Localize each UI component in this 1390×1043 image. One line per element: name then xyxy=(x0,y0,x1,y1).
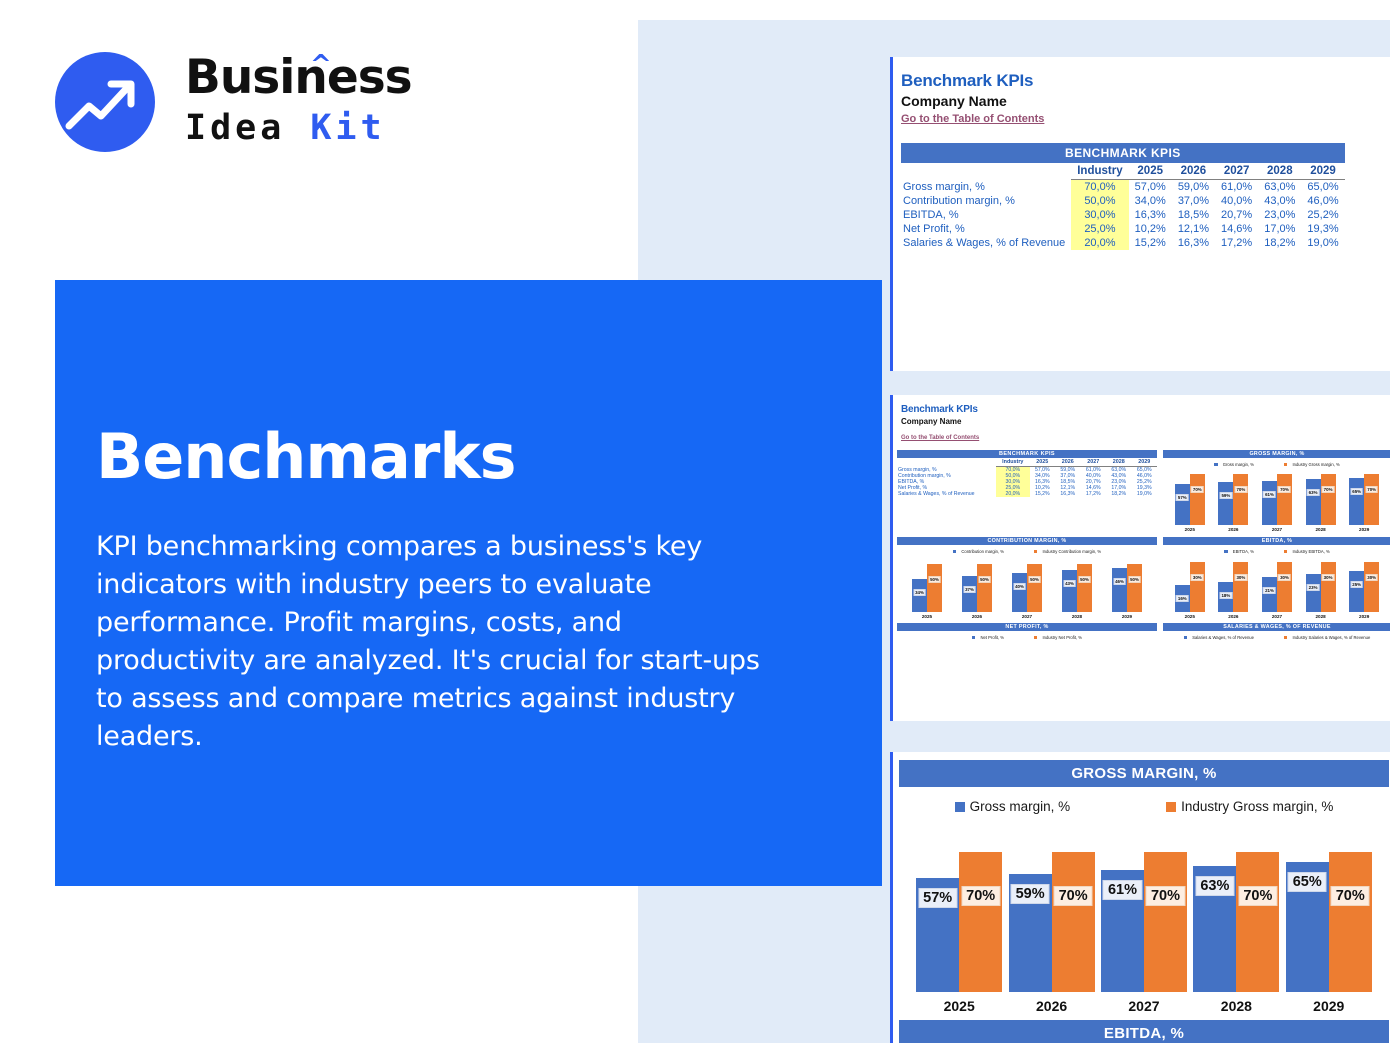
bar-ebitda-company-2025[interactable]: 16% xyxy=(1175,585,1190,612)
bar-data-label: 70% xyxy=(1278,486,1291,493)
bar-group-2029: 65%70% xyxy=(1286,852,1372,992)
x-axis-tick-2025: 2025 xyxy=(1173,527,1207,532)
sheet-subtitle-mini: Company Name xyxy=(901,417,1390,426)
bar-gross-margin-industry-2026[interactable]: 70% xyxy=(1233,474,1248,525)
kpi-cell-industry[interactable]: 20,0% xyxy=(996,491,1030,497)
kpi-cell-2026[interactable]: 16,3% xyxy=(1172,236,1215,250)
mini-chart-gross-margin[interactable]: GROSS MARGIN, % Gross margin, % Industry… xyxy=(1163,450,1390,532)
legend-item-industry-4: Industry Salaries & Wages, % of Revenue xyxy=(1284,635,1370,640)
legend-item-company-1: Contribution margin, % xyxy=(953,549,1004,554)
bar-data-label: 40% xyxy=(1013,583,1026,590)
legend-swatch-orange-2 xyxy=(1284,550,1288,554)
bar-gross-margin-company-2028[interactable]: 63% xyxy=(1193,866,1236,992)
bar-data-label: 50% xyxy=(1028,576,1041,583)
bar-ebitda-industry-2026[interactable]: 30% xyxy=(1233,562,1248,612)
kpi-column-header-2029[interactable]: 2029 xyxy=(1132,458,1158,467)
table-row[interactable]: Net Profit, %25,0%10,2%12,1%14,6%17,0%19… xyxy=(901,222,1345,236)
large-chart-ebitda-strip[interactable]: EBITDA, % EBITDA, % Industry EBITDA, % xyxy=(893,1014,1390,1043)
legend-label-industry-1: Industry Contribution margin, % xyxy=(1042,549,1101,554)
bar-group-2029: 46%50% xyxy=(1110,564,1144,612)
bar-ebitda-industry-2028[interactable]: 30% xyxy=(1321,562,1336,612)
legend-item-company-0: Gross margin, % xyxy=(1214,462,1254,467)
bar-gross-margin-company-2026[interactable]: 59% xyxy=(1009,874,1052,992)
benchmark-kpi-table[interactable]: BENCHMARK KPISIndustry202520262027202820… xyxy=(901,143,1345,250)
kpi-cell-industry[interactable]: 50,0% xyxy=(1071,194,1128,208)
bar-contribution-margin-industry-2028[interactable]: 50% xyxy=(1077,564,1092,612)
kpi-column-header-2025[interactable]: 2025 xyxy=(1129,163,1172,180)
bar-gross-margin-industry-2029[interactable]: 70% xyxy=(1364,474,1379,525)
kpi-table-body: BENCHMARK KPISIndustry202520262027202820… xyxy=(901,143,1345,250)
legend-label-company-big: Gross margin, % xyxy=(970,799,1071,814)
brand-logo[interactable]: Business ^ Idea Kit xyxy=(55,50,455,160)
kpi-cell-2026[interactable]: 59,0% xyxy=(1172,180,1215,195)
mini-xaxis-1: 20252026202720282029 xyxy=(897,612,1157,619)
kpi-cell-2028[interactable]: 23,0% xyxy=(1258,208,1301,222)
x-axis-tick-2025: 2025 xyxy=(1173,614,1207,619)
bar-data-label: 50% xyxy=(928,576,941,583)
bar-gross-margin-company-2026[interactable]: 59% xyxy=(1218,482,1233,525)
legend-item-industry-1: Industry Contribution margin, % xyxy=(1034,549,1101,554)
bar-contribution-margin-industry-2026[interactable]: 50% xyxy=(977,564,992,612)
bar-contribution-margin-industry-2027[interactable]: 50% xyxy=(1027,564,1042,612)
kpi-table-header-row: Industry20252026202720282029 xyxy=(897,458,1157,467)
x-axis-tick-2027: 2027 xyxy=(1010,614,1044,619)
kpi-table-band-row: BENCHMARK KPIS xyxy=(897,450,1157,458)
bar-ebitda-company-2029[interactable]: 25% xyxy=(1349,571,1364,612)
kpi-row-label: EBITDA, % xyxy=(901,208,1071,222)
bar-data-label: 30% xyxy=(1322,574,1335,581)
legend-label-company-3: Net Profit, % xyxy=(980,635,1004,640)
bar-gross-margin-industry-2025[interactable]: 70% xyxy=(1190,474,1205,525)
kpi-cell-2027[interactable]: 14,6% xyxy=(1215,222,1258,236)
bar-data-label: 61% xyxy=(1263,491,1276,498)
mini-plot-2: 16%30%18%30%21%30%23%30%25%30% xyxy=(1163,554,1390,612)
bar-data-label: 30% xyxy=(1191,574,1204,581)
bar-data-label: 30% xyxy=(1234,574,1247,581)
kpi-cell-2029[interactable]: 19,0% xyxy=(1132,491,1158,497)
x-axis-tick-2029: 2029 xyxy=(1347,614,1381,619)
table-row[interactable]: EBITDA, %30,0%16,3%18,5%20,7%23,0%25,2% xyxy=(901,208,1345,222)
bar-group-2026: 59%70% xyxy=(1216,474,1250,525)
kpi-cell-2026[interactable]: 18,5% xyxy=(1172,208,1215,222)
legend-swatch-blue-big xyxy=(955,802,965,812)
bar-ebitda-industry-2025[interactable]: 30% xyxy=(1190,562,1205,612)
large-chart-legend: Gross margin, % Industry Gross margin, % xyxy=(899,799,1389,814)
kpi-cell-2025[interactable]: 57,0% xyxy=(1129,180,1172,195)
legend-swatch-blue-3 xyxy=(972,636,976,640)
kpi-cell-2025[interactable]: 15,2% xyxy=(1030,491,1055,497)
bar-data-label: 70% xyxy=(961,886,1000,906)
kpi-cell-2029[interactable]: 19,0% xyxy=(1301,236,1344,250)
kpi-cell-2029[interactable]: 65,0% xyxy=(1301,180,1344,195)
bar-data-label: 63% xyxy=(1195,876,1234,896)
bar-ebitda-industry-2027[interactable]: 30% xyxy=(1277,562,1292,612)
mini-chart-contribution-margin[interactable]: CONTRIBUTION MARGIN, % Contribution marg… xyxy=(897,537,1157,619)
bar-data-label: 50% xyxy=(1128,576,1141,583)
x-axis-tick-2028: 2028 xyxy=(1304,527,1338,532)
legend-item-company-3: Net Profit, % xyxy=(972,635,1004,640)
bar-gross-margin-company-2029[interactable]: 65% xyxy=(1286,862,1329,992)
bar-data-label: 70% xyxy=(1322,486,1335,493)
bar-group-2027: 40%50% xyxy=(1010,564,1044,612)
x-axis-tick-2025: 2025 xyxy=(916,998,1002,1014)
growth-arrow-chart-icon xyxy=(55,52,155,152)
kpi-row-label: Salaries & Wages, % of Revenue xyxy=(901,236,1071,250)
bar-data-label: 70% xyxy=(1191,486,1204,493)
table-row[interactable]: Salaries & Wages, % of Revenue20,0%15,2%… xyxy=(901,236,1345,250)
kpi-row-label: Net Profit, % xyxy=(901,222,1071,236)
bar-data-label: 25% xyxy=(1350,581,1363,588)
bar-group-2026: 59%70% xyxy=(1009,852,1095,992)
kpi-column-header-industry[interactable]: Industry xyxy=(1071,163,1128,180)
bar-gross-margin-industry-2028[interactable]: 70% xyxy=(1236,852,1279,992)
bar-gross-margin-company-2027[interactable]: 61% xyxy=(1101,870,1144,992)
kpi-cell-industry[interactable]: 20,0% xyxy=(1071,236,1128,250)
legend-swatch-orange-0 xyxy=(1284,463,1288,467)
kpi-cell-2027[interactable]: 61,0% xyxy=(1215,180,1258,195)
bar-gross-margin-company-2027[interactable]: 61% xyxy=(1262,481,1277,525)
sheet-title: Benchmark KPIs xyxy=(901,71,1390,91)
bar-contribution-margin-company-2025[interactable]: 34% xyxy=(912,579,927,612)
large-plot: 57%70%59%70%61%70%63%70%65%70% xyxy=(899,832,1389,992)
mini-chart-legend-3: Net Profit, % Industry Net Profit, % xyxy=(897,635,1157,640)
kpi-row-label: Contribution margin, % xyxy=(901,194,1071,208)
bar-group-2029: 25%30% xyxy=(1347,562,1381,612)
kpi-table-corner-cell xyxy=(897,458,996,467)
legend-label-industry-3: Industry Net Profit, % xyxy=(1042,635,1082,640)
kpi-table-corner-cell xyxy=(901,163,1071,180)
mini-chart-title-4: SALARIES & WAGES, % OF REVENUE xyxy=(1163,623,1390,631)
dashboard-row-2: CONTRIBUTION MARGIN, % Contribution marg… xyxy=(897,537,1390,619)
x-axis-tick-2025: 2025 xyxy=(910,614,944,619)
bar-group-2026: 37%50% xyxy=(960,564,994,612)
bar-contribution-margin-company-2026[interactable]: 37% xyxy=(962,576,977,612)
bar-group-2026: 18%30% xyxy=(1216,562,1250,612)
legend-item-industry-2: Industry EBITDA, % xyxy=(1284,549,1330,554)
bar-data-label: 57% xyxy=(1176,494,1189,501)
table-row[interactable]: Contribution margin, %50,0%34,0%37,0%40,… xyxy=(901,194,1345,208)
bar-group-2025: 34%50% xyxy=(910,564,944,612)
mini-chart-title-0: GROSS MARGIN, % xyxy=(1163,450,1390,458)
legend-label-company-2: EBITDA, % xyxy=(1233,549,1254,554)
table-row[interactable]: Salaries & Wages, % of Revenue20,0%15,2%… xyxy=(897,491,1157,497)
bar-gross-margin-company-2029[interactable]: 65% xyxy=(1349,478,1364,525)
bar-data-label: 30% xyxy=(1278,574,1291,581)
slide-canvas: Business ^ Idea Kit Benchmarks KPI bench… xyxy=(0,0,1390,1043)
hero-content: Benchmarks KPI benchmarking compares a b… xyxy=(96,420,776,756)
kpi-cell-2028[interactable]: 17,0% xyxy=(1258,222,1301,236)
bar-contribution-margin-industry-2025[interactable]: 50% xyxy=(927,564,942,612)
bar-gross-margin-industry-2026[interactable]: 70% xyxy=(1052,852,1095,992)
page-title: Benchmarks xyxy=(96,420,776,494)
bar-gross-margin-industry-2027[interactable]: 70% xyxy=(1144,852,1187,992)
x-axis-tick-2026: 2026 xyxy=(1009,998,1095,1014)
legend-swatch-orange-3 xyxy=(1034,636,1038,640)
mini-chart-salaries-wages[interactable]: SALARIES & WAGES, % OF REVENUE Salaries … xyxy=(1163,623,1390,640)
legend-swatch-blue-4 xyxy=(1184,636,1188,640)
legend-swatch-blue-0 xyxy=(1214,463,1218,467)
mini-plot-0: 57%70%59%70%61%70%63%70%65%70% xyxy=(1163,467,1390,525)
mini-chart-legend-4: Salaries & Wages, % of Revenue Industry … xyxy=(1163,635,1390,640)
large-xaxis: 20252026202720282029 xyxy=(899,992,1389,1014)
kpi-table-band-row: BENCHMARK KPIS xyxy=(901,143,1345,163)
legend-item-company-2: EBITDA, % xyxy=(1224,549,1254,554)
bar-ebitda-company-2028[interactable]: 23% xyxy=(1306,574,1321,612)
ebitda-strip-title: EBITDA, % xyxy=(899,1020,1389,1043)
kpi-table-header-row: Industry20252026202720282029 xyxy=(901,163,1345,180)
mini-chart-ebitda[interactable]: EBITDA, % EBITDA, % Industry EBITDA, % 1… xyxy=(1163,537,1390,619)
bar-data-label: 21% xyxy=(1263,587,1276,594)
kpi-cell-2027[interactable]: 17,2% xyxy=(1081,491,1106,497)
bar-gross-margin-industry-2025[interactable]: 70% xyxy=(959,852,1002,992)
bar-data-label: 46% xyxy=(1113,578,1126,585)
x-axis-tick-2028: 2028 xyxy=(1060,614,1094,619)
mini-chart-title-3: NET PROFIT, % xyxy=(897,623,1157,631)
bar-data-label: 70% xyxy=(1365,486,1378,493)
bar-group-2027: 61%70% xyxy=(1101,852,1187,992)
bar-gross-margin-company-2025[interactable]: 57% xyxy=(916,878,959,992)
legend-label-industry-0: Industry Gross margin, % xyxy=(1292,462,1339,467)
kpi-cell-2026[interactable]: 16,3% xyxy=(1055,491,1080,497)
kpi-cell-2025[interactable]: 10,2% xyxy=(1129,222,1172,236)
kpi-column-header-2026[interactable]: 2026 xyxy=(1172,163,1215,180)
kpi-cell-2028[interactable]: 18,2% xyxy=(1258,236,1301,250)
bar-data-label: 57% xyxy=(918,888,957,908)
bar-data-label: 70% xyxy=(1054,886,1093,906)
dashboard-row-1: BENCHMARK KPISIndustry202520262027202820… xyxy=(897,450,1390,532)
hero-description: KPI benchmarking compares a business's k… xyxy=(96,528,776,756)
x-axis-tick-2029: 2029 xyxy=(1110,614,1144,619)
bar-gross-margin-industry-2029[interactable]: 70% xyxy=(1329,852,1372,992)
x-axis-tick-2027: 2027 xyxy=(1260,527,1294,532)
x-axis-tick-2027: 2027 xyxy=(1101,998,1187,1014)
kpi-cell-2025[interactable]: 34,0% xyxy=(1129,194,1172,208)
bar-group-2025: 57%70% xyxy=(1173,474,1207,525)
legend-swatch-orange-4 xyxy=(1284,636,1288,640)
kpi-cell-industry[interactable]: 25,0% xyxy=(1071,222,1128,236)
brand-idea-text: Idea xyxy=(185,108,310,148)
legend-swatch-orange-1 xyxy=(1034,550,1038,554)
brand-wordmark: Business ^ Idea Kit xyxy=(185,50,485,150)
kpi-cell-2027[interactable]: 20,7% xyxy=(1215,208,1258,222)
mini-chart-title-1: CONTRIBUTION MARGIN, % xyxy=(897,537,1157,545)
bar-data-label: 16% xyxy=(1176,595,1189,602)
bar-group-2027: 21%30% xyxy=(1260,562,1294,612)
bar-gross-margin-company-2028[interactable]: 63% xyxy=(1306,479,1321,525)
legend-label-company-4: Salaries & Wages, % of Revenue xyxy=(1192,635,1254,640)
bar-gross-margin-industry-2028[interactable]: 70% xyxy=(1321,474,1336,525)
legend-item-industry-3: Industry Net Profit, % xyxy=(1034,635,1082,640)
kpi-column-header-2028[interactable]: 2028 xyxy=(1106,458,1131,467)
mini-chart-title-2: EBITDA, % xyxy=(1163,537,1390,545)
mini-kpi-table-block[interactable]: BENCHMARK KPISIndustry202520262027202820… xyxy=(897,450,1157,497)
legend-item-company-big: Gross margin, % xyxy=(955,799,1071,814)
kpi-column-header-industry[interactable]: Industry xyxy=(996,458,1030,467)
bar-data-label: 65% xyxy=(1350,488,1363,495)
kpi-cell-2025[interactable]: 16,3% xyxy=(1129,208,1172,222)
legend-item-industry-big: Industry Gross margin, % xyxy=(1166,799,1333,814)
sheet-header: Benchmark KPIs Company Name Go to the Ta… xyxy=(893,57,1390,127)
table-of-contents-link[interactable]: Go to the Table of Contents xyxy=(901,113,1044,125)
sheet-title-mini: Benchmark KPIs xyxy=(901,404,1390,415)
bar-data-label: 37% xyxy=(963,586,976,593)
kpi-column-header-2028[interactable]: 2028 xyxy=(1258,163,1301,180)
bar-contribution-margin-company-2028[interactable]: 43% xyxy=(1062,570,1077,612)
mini-chart-net-profit[interactable]: NET PROFIT, % Net Profit, % Industry Net… xyxy=(897,623,1157,640)
brand-kit-text: Kit xyxy=(310,108,385,148)
large-chart-gross-margin[interactable]: GROSS MARGIN, % Gross margin, % Industry… xyxy=(893,752,1390,1014)
table-of-contents-link-mini[interactable]: Go to the Table of Contents xyxy=(901,435,979,441)
bar-group-2028: 63%70% xyxy=(1193,852,1279,992)
x-axis-tick-2026: 2026 xyxy=(960,614,994,619)
kpi-cell-industry[interactable]: 70,0% xyxy=(1071,180,1128,195)
kpi-table-band-title: BENCHMARK KPIS xyxy=(901,143,1345,163)
mini-xaxis-0: 20252026202720282029 xyxy=(1163,525,1390,532)
kpi-cell-2026[interactable]: 37,0% xyxy=(1172,194,1215,208)
brand-line-ideakit: Idea Kit xyxy=(185,106,485,150)
bar-gross-margin-industry-2027[interactable]: 70% xyxy=(1277,474,1292,525)
kpi-cell-2029[interactable]: 46,0% xyxy=(1301,194,1344,208)
sheet-header-mini: Benchmark KPIs Company Name Go to the Ta… xyxy=(893,395,1390,444)
bar-data-label: 34% xyxy=(913,589,926,596)
kpi-cell-industry[interactable]: 30,0% xyxy=(1071,208,1128,222)
brand-caret-icon: ^ xyxy=(310,52,331,78)
bar-data-label: 59% xyxy=(1011,884,1050,904)
mini-plot-1: 34%50%37%50%40%50%43%50%46%50% xyxy=(897,554,1157,612)
legend-item-company-4: Salaries & Wages, % of Revenue xyxy=(1184,635,1254,640)
sheet-panel-table[interactable]: Benchmark KPIs Company Name Go to the Ta… xyxy=(890,57,1390,371)
bar-data-label: 43% xyxy=(1063,580,1076,587)
dashboard-grid: BENCHMARK KPISIndustry202520262027202820… xyxy=(893,450,1390,640)
x-axis-tick-2027: 2027 xyxy=(1260,614,1294,619)
bar-data-label: 63% xyxy=(1307,489,1320,496)
bar-ebitda-company-2026[interactable]: 18% xyxy=(1218,582,1233,612)
table-row[interactable]: Gross margin, %70,0%57,0%59,0%61,0%63,0%… xyxy=(901,180,1345,195)
sheet-panel-dashboard[interactable]: Benchmark KPIs Company Name Go to the Ta… xyxy=(890,395,1390,721)
kpi-row-label: Gross margin, % xyxy=(901,180,1071,195)
bar-data-label: 50% xyxy=(978,576,991,583)
x-axis-tick-2028: 2028 xyxy=(1304,614,1338,619)
legend-label-company-1: Contribution margin, % xyxy=(961,549,1004,554)
bar-contribution-margin-company-2027[interactable]: 40% xyxy=(1012,573,1027,612)
x-axis-tick-2026: 2026 xyxy=(1216,614,1250,619)
kpi-cell-2027[interactable]: 17,2% xyxy=(1215,236,1258,250)
brand-business-text: Business xyxy=(185,50,412,105)
x-axis-tick-2029: 2029 xyxy=(1286,998,1372,1014)
legend-item-industry-0: Industry Gross margin, % xyxy=(1284,462,1340,467)
bar-data-label: 65% xyxy=(1288,872,1327,892)
sheet-subtitle: Company Name xyxy=(901,93,1390,109)
legend-label-company-0: Gross margin, % xyxy=(1223,462,1254,467)
legend-label-industry-4: Industry Salaries & Wages, % of Revenue xyxy=(1292,635,1370,640)
bar-group-2025: 57%70% xyxy=(916,852,1002,992)
x-axis-tick-2026: 2026 xyxy=(1216,527,1250,532)
bar-group-2028: 23%30% xyxy=(1304,562,1338,612)
kpi-cell-2025[interactable]: 15,2% xyxy=(1129,236,1172,250)
bar-data-label: 61% xyxy=(1103,880,1142,900)
kpi-column-header-2026[interactable]: 2026 xyxy=(1055,458,1080,467)
bar-data-label: 70% xyxy=(1146,886,1185,906)
kpi-column-header-2029[interactable]: 2029 xyxy=(1301,163,1344,180)
bar-data-label: 59% xyxy=(1219,492,1232,499)
bar-data-label: 70% xyxy=(1238,886,1277,906)
sheet-panel-large-chart[interactable]: GROSS MARGIN, % Gross margin, % Industry… xyxy=(890,752,1390,1043)
mini-xaxis-2: 20252026202720282029 xyxy=(1163,612,1390,619)
kpi-column-header-2025[interactable]: 2025 xyxy=(1030,458,1055,467)
kpi-cell-2029[interactable]: 25,2% xyxy=(1301,208,1344,222)
kpi-cell-2029[interactable]: 19,3% xyxy=(1301,222,1344,236)
x-axis-tick-2028: 2028 xyxy=(1193,998,1279,1014)
kpi-cell-2028[interactable]: 63,0% xyxy=(1258,180,1301,195)
bar-group-2028: 43%50% xyxy=(1060,564,1094,612)
bar-group-2028: 63%70% xyxy=(1304,474,1338,525)
legend-label-industry-big: Industry Gross margin, % xyxy=(1181,799,1333,814)
legend-swatch-blue-1 xyxy=(953,550,957,554)
x-axis-tick-2029: 2029 xyxy=(1347,527,1381,532)
bar-contribution-margin-company-2029[interactable]: 46% xyxy=(1112,568,1127,612)
legend-label-industry-2: Industry EBITDA, % xyxy=(1292,549,1329,554)
bar-data-label: 70% xyxy=(1234,486,1247,493)
kpi-column-header-2027[interactable]: 2027 xyxy=(1081,458,1106,467)
bar-data-label: 70% xyxy=(1331,886,1370,906)
kpi-cell-2028[interactable]: 18,2% xyxy=(1106,491,1131,497)
legend-swatch-blue-2 xyxy=(1224,550,1228,554)
benchmark-kpi-table-mini[interactable]: BENCHMARK KPISIndustry202520262027202820… xyxy=(897,450,1157,497)
bar-data-label: 50% xyxy=(1078,576,1091,583)
kpi-column-header-2027[interactable]: 2027 xyxy=(1215,163,1258,180)
kpi-cell-2026[interactable]: 12,1% xyxy=(1172,222,1215,236)
bar-data-label: 23% xyxy=(1307,584,1320,591)
legend-swatch-orange-big xyxy=(1166,802,1176,812)
bar-group-2025: 16%30% xyxy=(1173,562,1207,612)
bar-contribution-margin-industry-2029[interactable]: 50% xyxy=(1127,564,1142,612)
bar-group-2029: 65%70% xyxy=(1347,474,1381,525)
bar-ebitda-industry-2029[interactable]: 30% xyxy=(1364,562,1379,612)
dashboard-row-3: NET PROFIT, % Net Profit, % Industry Net… xyxy=(897,623,1390,640)
kpi-cell-2027[interactable]: 40,0% xyxy=(1215,194,1258,208)
bar-group-2027: 61%70% xyxy=(1260,474,1294,525)
bar-gross-margin-company-2025[interactable]: 57% xyxy=(1175,484,1190,525)
brand-line-business: Business ^ xyxy=(185,50,485,106)
kpi-table-band-title: BENCHMARK KPIS xyxy=(897,450,1157,458)
kpi-row-label: Salaries & Wages, % of Revenue xyxy=(897,491,996,497)
kpi-cell-2028[interactable]: 43,0% xyxy=(1258,194,1301,208)
bar-ebitda-company-2027[interactable]: 21% xyxy=(1262,577,1277,612)
kpi-table-body-mini: BENCHMARK KPISIndustry202520262027202820… xyxy=(897,450,1157,497)
large-chart-title: GROSS MARGIN, % xyxy=(899,760,1389,787)
bar-data-label: 30% xyxy=(1365,574,1378,581)
kpi-table-wrap: BENCHMARK KPISIndustry202520262027202820… xyxy=(893,127,1390,250)
bar-data-label: 18% xyxy=(1219,592,1232,599)
